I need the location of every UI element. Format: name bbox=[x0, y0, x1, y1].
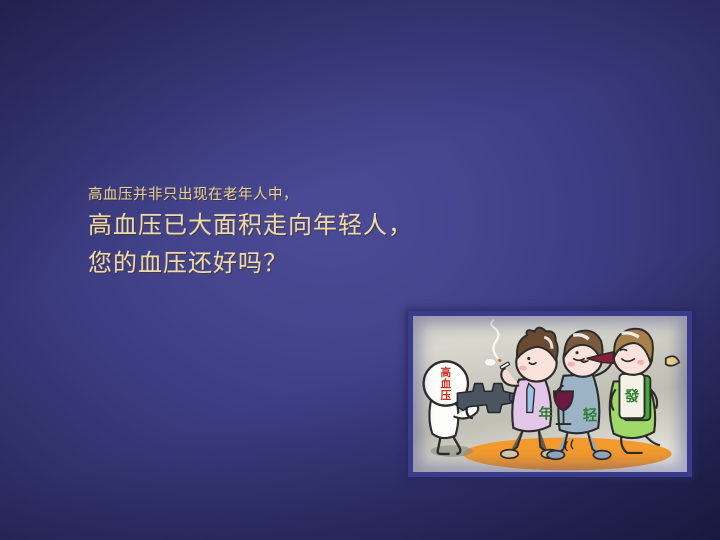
extra-tile bbox=[666, 356, 680, 366]
mahjong-tile-icon: 發 bbox=[619, 374, 650, 420]
cigarette-icon bbox=[484, 320, 509, 369]
person3-tile-char: 發 bbox=[624, 387, 640, 405]
presentation-slide: 高血压并非只出现在老年人中， 高血压已大面积走向年轻人， 您的血压还好吗？ bbox=[0, 0, 720, 540]
slide-text-line-3: 您的血压还好吗？ bbox=[88, 244, 508, 282]
cartoon-illustration: 高 血 压 bbox=[408, 311, 692, 477]
person2-shirt-char: 轻 bbox=[583, 406, 598, 424]
slide-text-block: 高血压并非只出现在老年人中， 高血压已大面积走向年轻人， 您的血压还好吗？ bbox=[88, 184, 508, 282]
young-person-mahjong: 發 bbox=[610, 329, 679, 453]
illustration-frame: 高 血 压 bbox=[408, 311, 692, 477]
slide-text-line-2: 高血压已大面积走向年轻人， bbox=[88, 206, 508, 244]
illustration-artwork: 高 血 压 bbox=[413, 316, 687, 476]
person1-shirt-char: 年 bbox=[538, 404, 553, 422]
attacker-label-char-3: 压 bbox=[440, 389, 451, 402]
slide-text-line-1: 高血压并非只出现在老年人中， bbox=[88, 184, 508, 206]
